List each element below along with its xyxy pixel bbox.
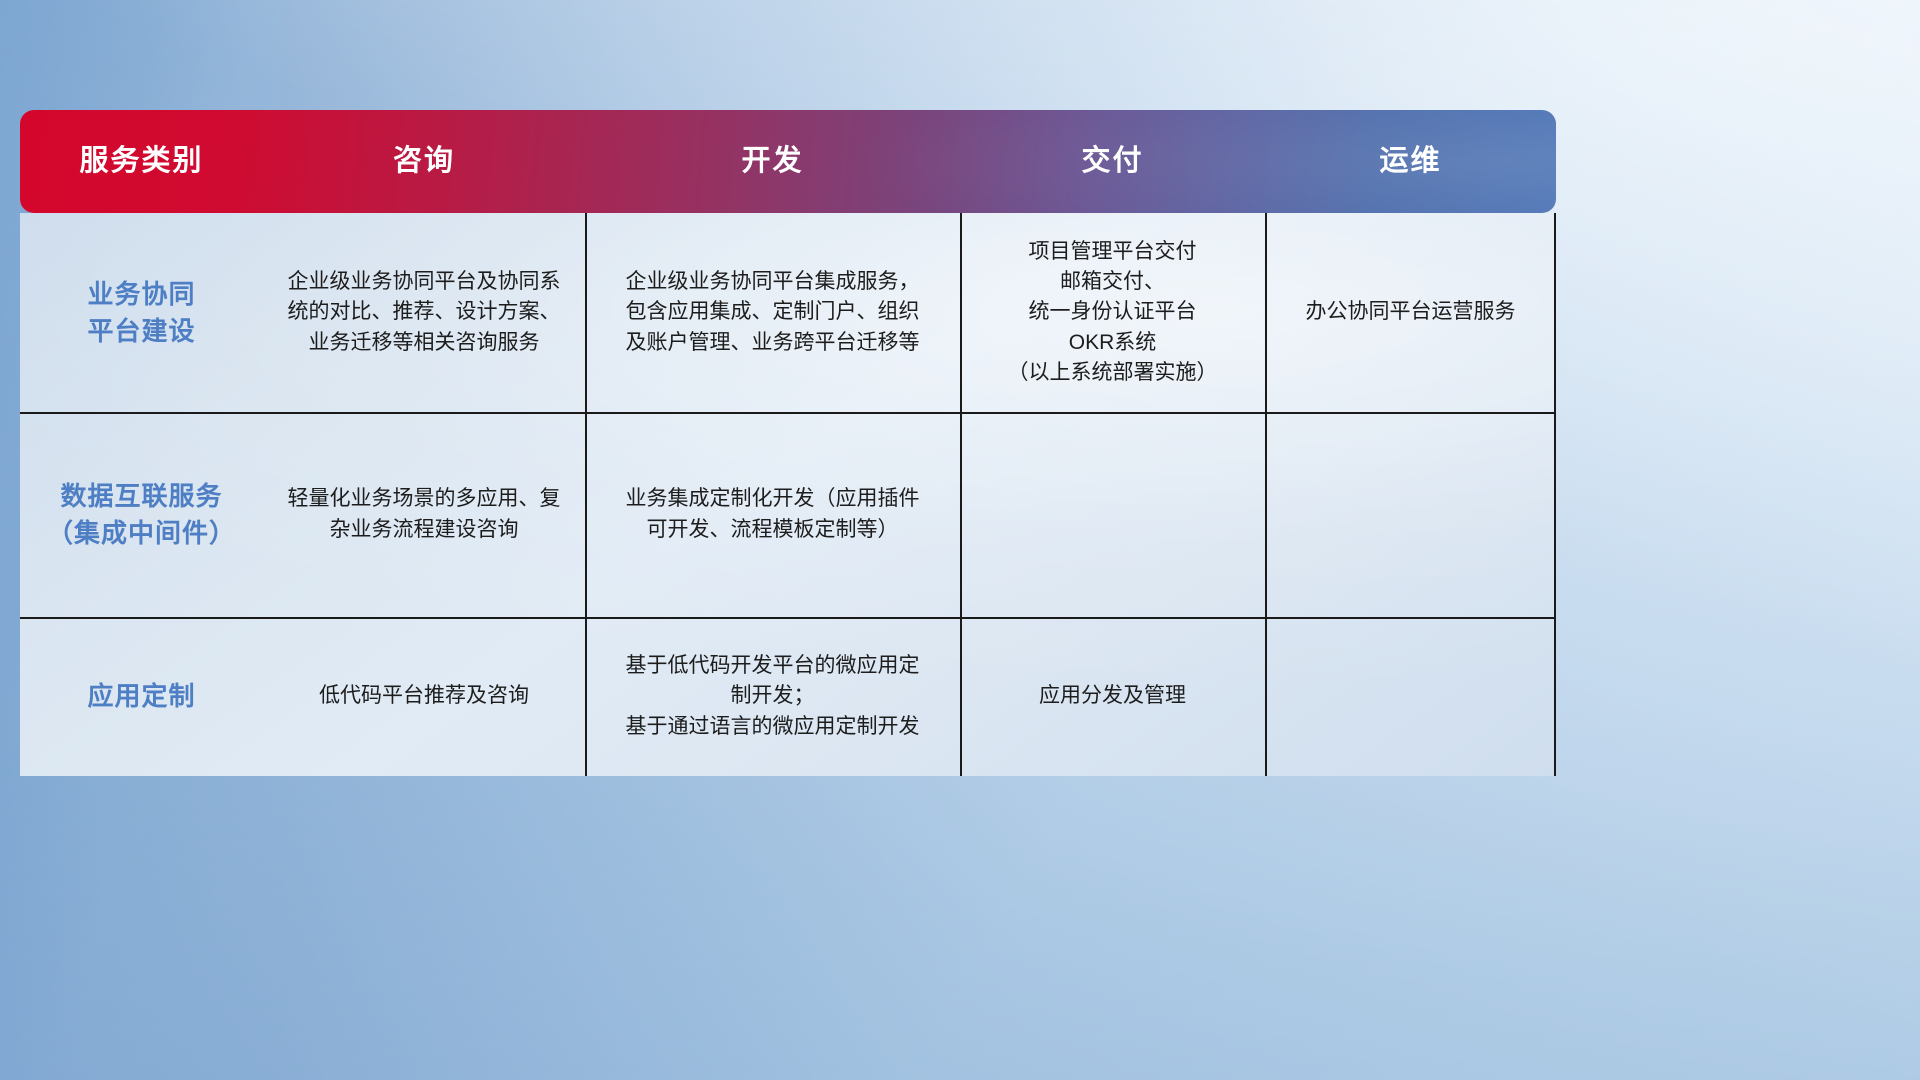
cell-operations [1265,412,1556,617]
column-header-development: 开发 [585,147,960,176]
cell-text: 业务集成定制化开发（应用插件 可开发、流程模板定制等） [626,484,920,544]
cell-delivery [960,412,1265,617]
row-category-label: 业务协同 平台建设 [20,213,263,412]
table-row: 业务协同 平台建设 企业级业务协同平台及协同系 统的对比、推荐、设计方案、 业务… [20,213,1556,412]
cell-consulting: 轻量化业务场景的多应用、复 杂业务流程建设咨询 [263,412,585,617]
column-header-delivery: 交付 [960,147,1265,176]
category-text: 业务协同 平台建设 [87,276,195,350]
cell-text: 办公协同平台运营服务 [1306,297,1516,327]
cell-delivery: 项目管理平台交付 邮箱交付、 统一身份认证平台 OKR系统 （以上系统部署实施） [960,213,1265,412]
cell-development: 基于低代码开发平台的微应用定 制开发； 基于通过语言的微应用定制开发 [585,617,960,776]
table-body: 业务协同 平台建设 企业级业务协同平台及协同系 统的对比、推荐、设计方案、 业务… [20,213,1556,776]
cell-text: 应用分发及管理 [1039,681,1186,711]
column-header-consulting: 咨询 [263,147,585,176]
cell-operations [1265,617,1556,776]
row-category-label: 数据互联服务 （集成中间件） [20,412,263,617]
cell-text: 基于低代码开发平台的微应用定 制开发； 基于通过语言的微应用定制开发 [626,651,920,742]
column-header-category: 服务类别 [20,147,263,176]
cell-text: 轻量化业务场景的多应用、复 杂业务流程建设咨询 [288,484,561,544]
table-header-row: 服务类别 咨询 开发 交付 运维 [20,110,1556,213]
cell-consulting: 低代码平台推荐及咨询 [263,617,585,776]
cell-development: 企业级业务协同平台集成服务， 包含应用集成、定制门户、组织 及账户管理、业务跨平… [585,213,960,412]
cell-text: 企业级业务协同平台及协同系 统的对比、推荐、设计方案、 业务迁移等相关咨询服务 [288,267,561,358]
table-row: 应用定制 低代码平台推荐及咨询 基于低代码开发平台的微应用定 制开发； 基于通过… [20,617,1556,776]
service-category-table: 服务类别 咨询 开发 交付 运维 业务协同 平台建设 企业级业务协同平台及协同系… [20,110,1556,776]
cell-operations: 办公协同平台运营服务 [1265,213,1556,412]
cell-text: 低代码平台推荐及咨询 [319,681,529,711]
category-text: 数据互联服务 （集成中间件） [47,478,236,552]
column-header-operations: 运维 [1265,147,1556,176]
cell-text: 项目管理平台交付 邮箱交付、 统一身份认证平台 OKR系统 （以上系统部署实施） [1008,237,1218,388]
cell-development: 业务集成定制化开发（应用插件 可开发、流程模板定制等） [585,412,960,617]
table-row: 数据互联服务 （集成中间件） 轻量化业务场景的多应用、复 杂业务流程建设咨询 业… [20,412,1556,617]
category-text: 应用定制 [87,678,195,715]
cell-delivery: 应用分发及管理 [960,617,1265,776]
cell-consulting: 企业级业务协同平台及协同系 统的对比、推荐、设计方案、 业务迁移等相关咨询服务 [263,213,585,412]
cell-text: 企业级业务协同平台集成服务， 包含应用集成、定制门户、组织 及账户管理、业务跨平… [626,267,920,358]
row-category-label: 应用定制 [20,617,263,776]
